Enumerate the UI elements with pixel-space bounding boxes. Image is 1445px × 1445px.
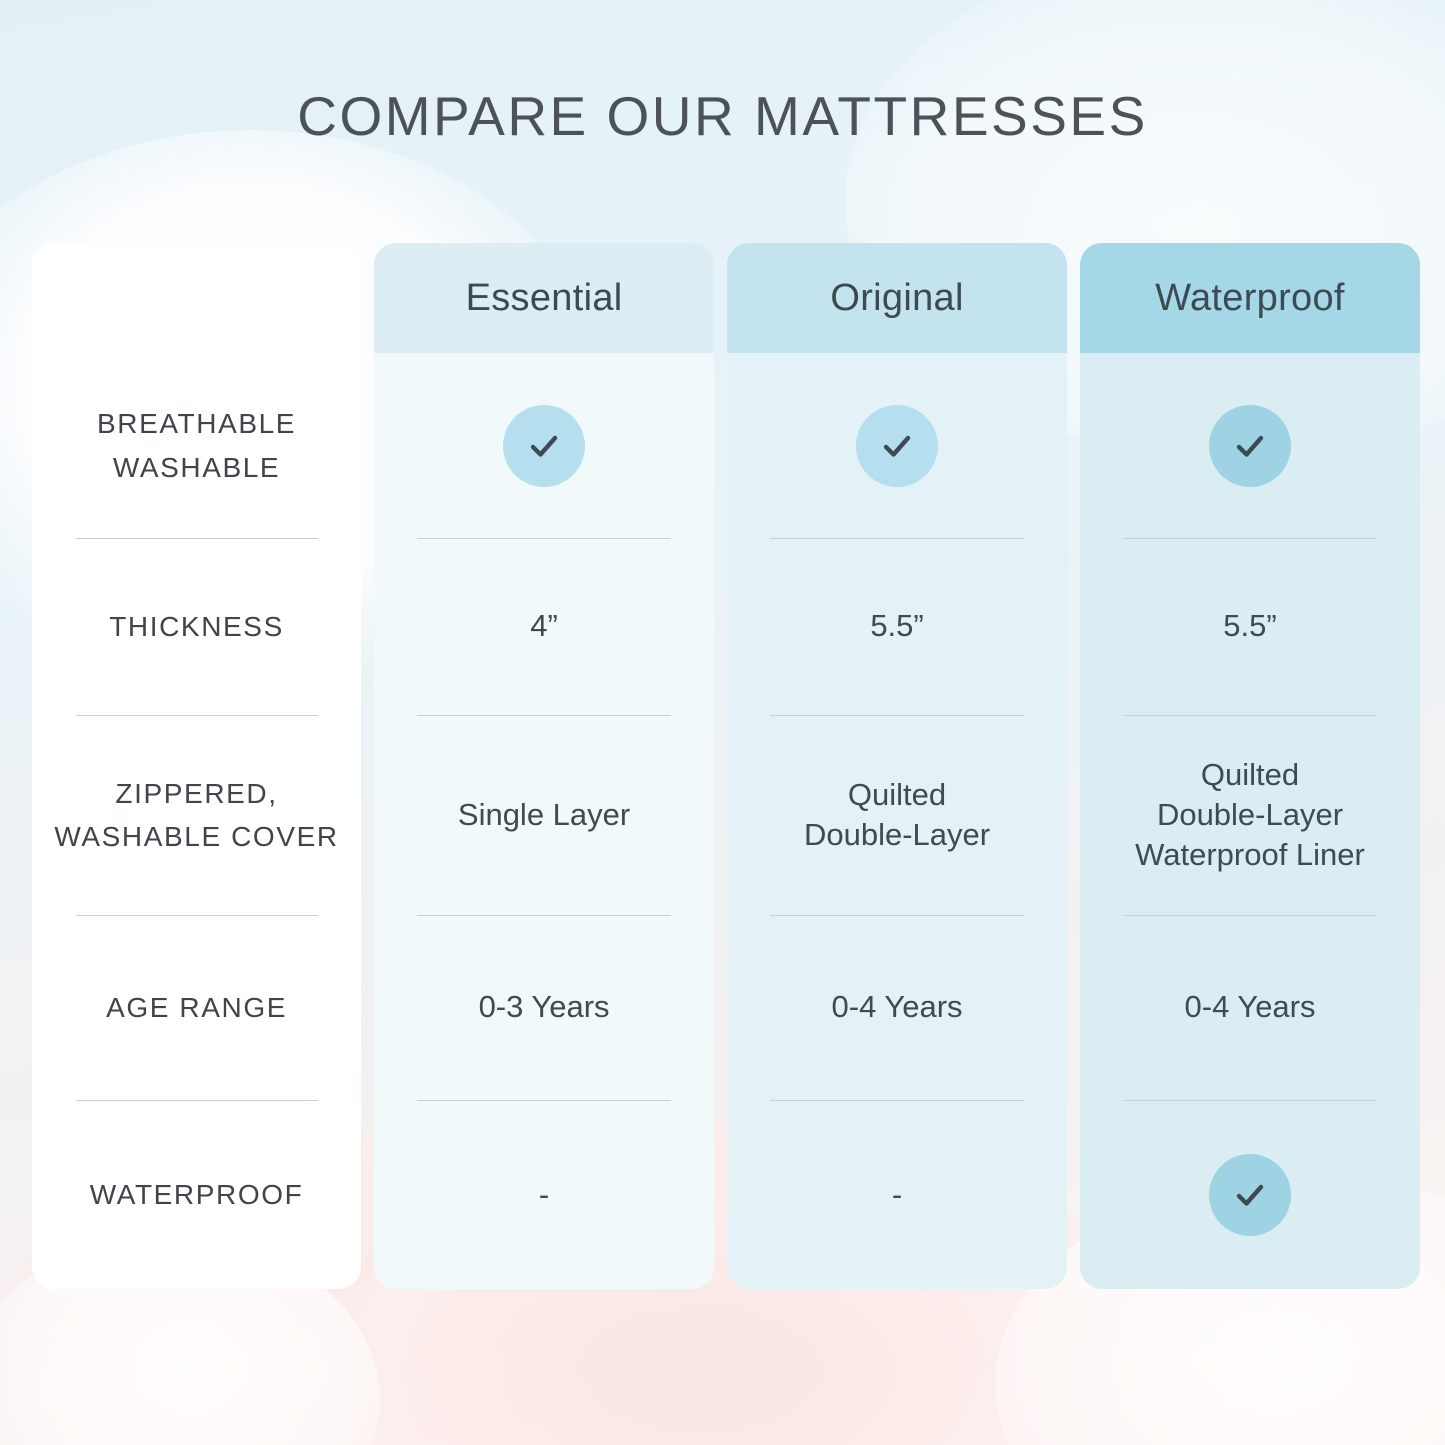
feature-label-line-1: THICKNESS [109,611,284,642]
check-icon [1209,405,1291,487]
cell-value: QuiltedDouble-Layer [804,775,990,856]
feature-label-line-1: ZIPPERED, [115,778,277,809]
cell-waterproof-waterproof [1080,1100,1420,1289]
feature-label-waterproof: WATERPROOF [32,1100,361,1289]
feature-label-breathable-washable: BREATHABLE WASHABLE [32,353,361,538]
cell-waterproof-breathable-washable [1080,353,1420,538]
cell-original-waterproof: - [727,1100,1067,1289]
product-column-essential[interactable]: Essential 4” Single Layer 0-3 Yea [374,243,714,1289]
feature-label-age-range: AGE RANGE [32,915,361,1100]
feature-label-text: WATERPROOF [90,1173,304,1216]
feature-label-text: BREATHABLE WASHABLE [97,402,296,489]
label-column-header [32,243,361,353]
cell-value: - [539,1177,549,1213]
feature-label-line-2: WASHABLE [113,452,280,483]
feature-label-column: BREATHABLE WASHABLE THICKNESS ZIPPERED, … [32,243,361,1289]
feature-label-thickness: THICKNESS [32,538,361,715]
cell-essential-breathable-washable [374,353,714,538]
feature-label-line-1: BREATHABLE [97,408,296,439]
cell-original-age-range: 0-4 Years [727,915,1067,1100]
cell-value: QuiltedDouble-LayerWaterproof Liner [1135,755,1365,876]
cell-original-zippered-washable-cover: QuiltedDouble-Layer [727,715,1067,915]
check-icon [1209,1154,1291,1236]
page-title: COMPARE OUR MATTRESSES [0,84,1445,148]
cell-value: Single Layer [458,795,630,835]
feature-label-line-1: WATERPROOF [90,1179,304,1210]
cell-waterproof-age-range: 0-4 Years [1080,915,1420,1100]
feature-label-zippered-washable-cover: ZIPPERED, WASHABLE COVER [32,715,361,915]
cell-value: 0-4 Years [832,987,963,1027]
label-column-body: BREATHABLE WASHABLE THICKNESS ZIPPERED, … [32,353,361,1289]
feature-label-text: AGE RANGE [106,986,287,1029]
product-column-original[interactable]: Original 5.5” QuiltedDouble-Layer [727,243,1067,1289]
feature-label-line-1: AGE RANGE [106,992,287,1023]
cell-waterproof-thickness: 5.5” [1080,538,1420,715]
product-header-essential: Essential [374,243,714,353]
product-column-waterproof[interactable]: Waterproof 5.5” QuiltedDouble-LayerWater… [1080,243,1420,1289]
cell-essential-waterproof: - [374,1100,714,1289]
comparison-page: COMPARE OUR MATTRESSES BREATHABLE WASHAB… [0,0,1445,1445]
cell-value: 5.5” [1223,606,1276,646]
cell-value: 4” [530,606,558,646]
cell-value: 0-3 Years [479,987,610,1027]
cell-value: 0-4 Years [1185,987,1316,1027]
cell-value: 5.5” [870,606,923,646]
cell-original-thickness: 5.5” [727,538,1067,715]
cell-value: - [892,1177,902,1213]
product-column-body-original: 5.5” QuiltedDouble-Layer 0-4 Years - [727,353,1067,1289]
comparison-table: BREATHABLE WASHABLE THICKNESS ZIPPERED, … [32,243,1420,1289]
product-column-body-waterproof: 5.5” QuiltedDouble-LayerWaterproof Liner… [1080,353,1420,1289]
cell-essential-zippered-washable-cover: Single Layer [374,715,714,915]
cell-essential-age-range: 0-3 Years [374,915,714,1100]
cell-essential-thickness: 4” [374,538,714,715]
feature-label-line-2: WASHABLE COVER [54,821,338,852]
feature-label-text: THICKNESS [109,605,284,648]
feature-label-text: ZIPPERED, WASHABLE COVER [54,772,338,859]
product-header-waterproof: Waterproof [1080,243,1420,353]
check-icon [503,405,585,487]
cell-original-breathable-washable [727,353,1067,538]
check-icon [856,405,938,487]
product-header-original: Original [727,243,1067,353]
cell-waterproof-zippered-washable-cover: QuiltedDouble-LayerWaterproof Liner [1080,715,1420,915]
product-column-body-essential: 4” Single Layer 0-3 Years - [374,353,714,1289]
